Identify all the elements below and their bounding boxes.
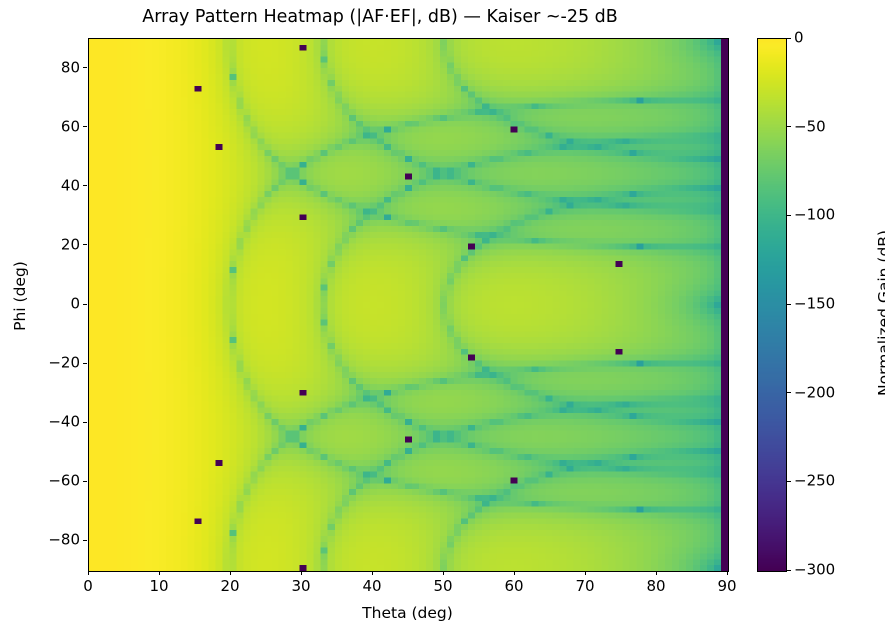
heatmap-image[interactable] <box>89 39 728 571</box>
y-tick-mark <box>83 422 87 423</box>
colorbar-tick-label: −50 <box>794 118 826 135</box>
y-tick-label: −80 <box>40 532 80 549</box>
x-tick-label: 10 <box>149 578 168 595</box>
heatmap-axes[interactable] <box>88 38 729 572</box>
x-tick-label: 80 <box>646 578 665 595</box>
x-tick-mark <box>159 571 160 575</box>
x-tick-mark <box>88 571 89 575</box>
colorbar-tick-mark <box>787 304 791 305</box>
y-tick-label: 80 <box>40 59 80 76</box>
y-tick-mark <box>83 304 87 305</box>
x-tick-label: 30 <box>291 578 310 595</box>
x-tick-label: 70 <box>575 578 594 595</box>
colorbar-label: Normalized Gain (dB) <box>875 213 885 413</box>
x-tick-label: 90 <box>717 578 736 595</box>
y-axis-label: Phi (deg) <box>11 206 29 386</box>
page-title: Array Pattern Heatmap (|AF·EF|, dB) — Ka… <box>0 6 760 28</box>
figure-canvas: Array Pattern Heatmap (|AF·EF|, dB) — Ka… <box>0 0 885 637</box>
x-tick-label: 0 <box>83 578 93 595</box>
y-tick-mark <box>83 481 87 482</box>
colorbar-gradient <box>758 39 786 571</box>
y-tick-label: −60 <box>40 473 80 490</box>
y-tick-mark <box>83 244 87 245</box>
colorbar-tick-mark <box>787 126 791 127</box>
colorbar-tick-label: −100 <box>794 207 835 224</box>
y-tick-label: 20 <box>40 236 80 253</box>
y-tick-label: 40 <box>40 177 80 194</box>
colorbar-tick-mark <box>787 392 791 393</box>
colorbar-tick-mark <box>787 570 791 571</box>
colorbar-tick-label: 0 <box>794 30 804 47</box>
x-axis-label: Theta (deg) <box>88 604 727 622</box>
x-tick-mark <box>372 571 373 575</box>
y-tick-label: 60 <box>40 118 80 135</box>
colorbar-tick-mark <box>787 38 791 39</box>
colorbar-tick-mark <box>787 481 791 482</box>
colorbar-tick-label: −200 <box>794 384 835 401</box>
colorbar-tick-label: −250 <box>794 473 835 490</box>
colorbar-tick-mark <box>787 215 791 216</box>
colorbar[interactable] <box>757 38 787 572</box>
colorbar-tick-label: −300 <box>794 562 835 579</box>
y-tick-label: 0 <box>40 296 80 313</box>
colorbar-tick-label: −150 <box>794 296 835 313</box>
y-tick-label: −20 <box>40 355 80 372</box>
x-tick-mark <box>230 571 231 575</box>
x-tick-mark <box>301 571 302 575</box>
y-tick-mark <box>83 126 87 127</box>
x-tick-label: 60 <box>504 578 523 595</box>
x-tick-mark <box>585 571 586 575</box>
x-tick-mark <box>727 571 728 575</box>
y-tick-mark <box>83 540 87 541</box>
x-tick-label: 20 <box>220 578 239 595</box>
y-tick-mark <box>83 67 87 68</box>
x-tick-mark <box>656 571 657 575</box>
x-tick-label: 40 <box>362 578 381 595</box>
y-tick-mark <box>83 185 87 186</box>
x-tick-mark <box>514 571 515 575</box>
y-tick-mark <box>83 363 87 364</box>
x-tick-label: 50 <box>433 578 452 595</box>
y-tick-label: −40 <box>40 414 80 431</box>
x-tick-mark <box>443 571 444 575</box>
